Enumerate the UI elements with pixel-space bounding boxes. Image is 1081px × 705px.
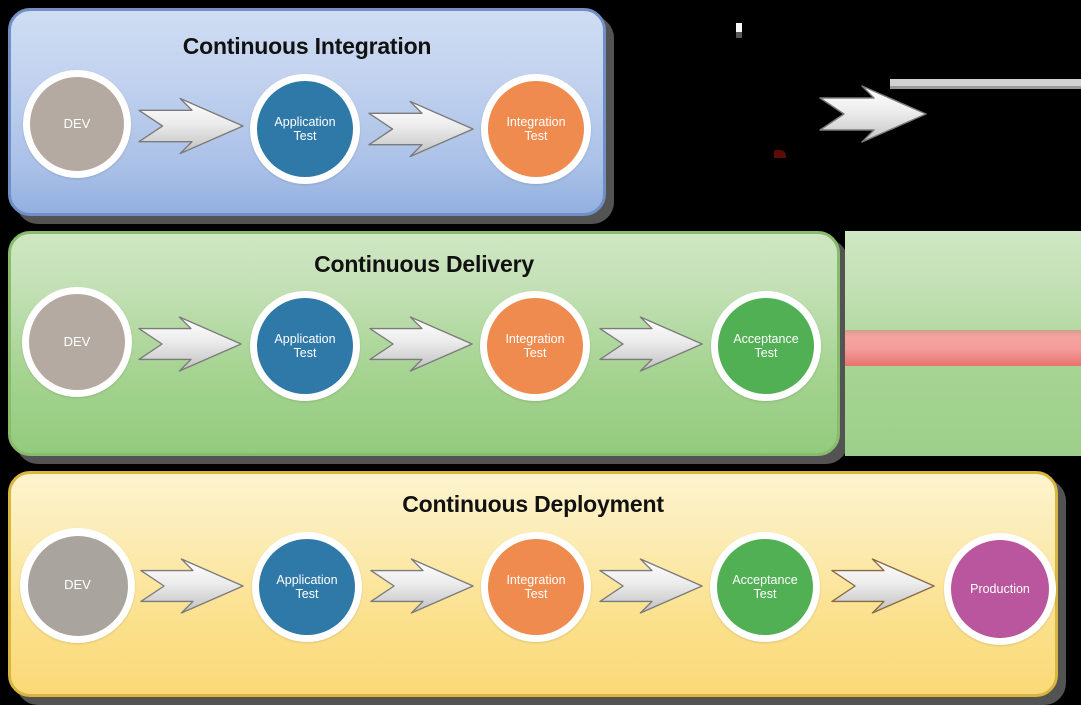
node-label-line1: Application [276,573,337,587]
node-dev-ci[interactable]: DEV [23,70,131,178]
arrow-icon [598,555,704,617]
arrow-icon [367,98,475,160]
panel-title-continuous-deployment: Continuous Deployment [11,491,1055,518]
node-production-cdep[interactable]: Production [944,533,1056,645]
node-application-test-ci[interactable]: Application Test [250,74,360,184]
node-label-line2: Test [525,129,548,143]
stray-red-mark [774,150,786,158]
node-label-line1: Application [274,115,335,129]
arrow-icon [598,313,704,375]
node-label: DEV [60,117,95,132]
arrow-icon [137,95,245,157]
node-label-line1: Integration [506,573,565,587]
panel-fragment-red-band [845,330,1081,366]
node-acceptance-test-cd[interactable]: Acceptance Test [711,291,821,401]
node-dev-cd[interactable]: DEV [22,287,132,397]
node-dev-cdep[interactable]: DEV [20,528,135,643]
node-integration-test-cd[interactable]: Integration Test [480,291,590,401]
node-label-line2: Test [294,129,317,143]
node-application-test-cdep[interactable]: Application Test [252,532,362,642]
node-label-line2: Test [755,346,778,360]
stray-gray-square [736,32,742,38]
node-integration-test-cdep[interactable]: Integration Test [481,532,591,642]
node-label-line1: Integration [506,115,565,129]
panel-title-continuous-delivery: Continuous Delivery [11,251,837,278]
node-application-test-cd[interactable]: Application Test [250,291,360,401]
diagram-canvas: Continuous Integration DEV Application T… [0,0,1081,705]
node-label-line1: Integration [505,332,564,346]
node-label-line2: Test [294,346,317,360]
stray-white-square [736,23,742,32]
arrow-icon [369,555,475,617]
node-label: Production [966,582,1034,596]
arrow-icon [137,313,243,375]
node-label: DEV [60,335,95,350]
arrow-icon [830,555,936,617]
arrow-icon [368,313,474,375]
arrow-icon [139,555,245,617]
node-label-line2: Test [296,587,319,601]
node-label: DEV [60,578,95,593]
node-acceptance-test-cdep[interactable]: Acceptance Test [710,532,820,642]
node-integration-test-ci[interactable]: Integration Test [481,74,591,184]
floating-arrow-icon [818,84,928,144]
node-label-line1: Application [274,332,335,346]
node-label-line1: Acceptance [732,573,797,587]
panel-title-continuous-integration: Continuous Integration [11,33,603,60]
node-label-line2: Test [754,587,777,601]
node-label-line2: Test [525,587,548,601]
node-label-line2: Test [524,346,547,360]
node-label-line1: Acceptance [733,332,798,346]
